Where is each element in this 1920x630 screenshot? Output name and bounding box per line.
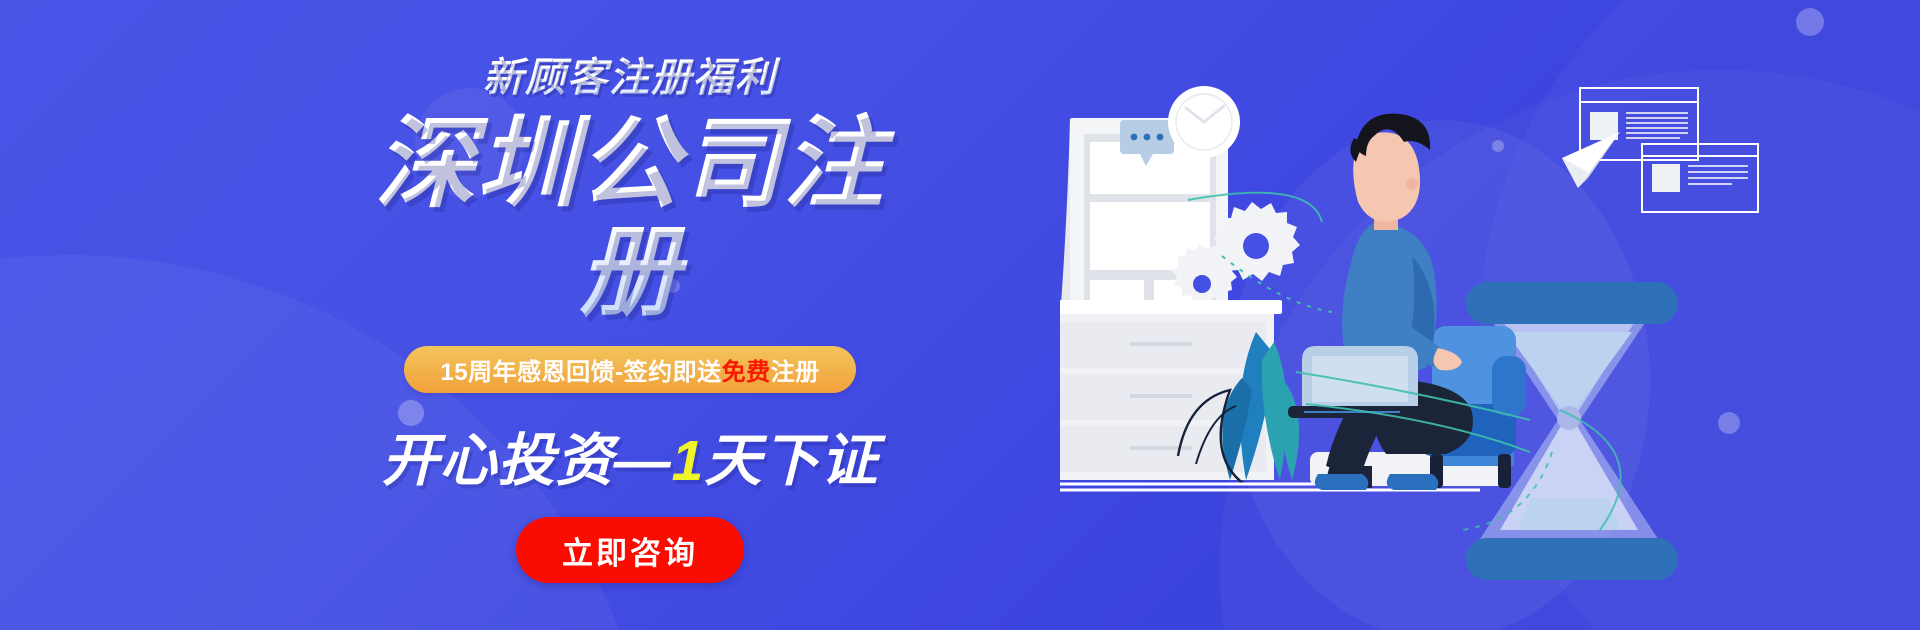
promo-pill-lead: 15周年感恩回馈-签约即送 [440,359,721,386]
chat-bubble-icon [1120,120,1174,166]
person-with-laptop [1315,114,1473,490]
consult-now-button[interactable]: 立即咨询 [516,517,744,583]
sub-headline: 开心投资—1天下证 [330,415,930,497]
sub-headline-tail: 天下证 [704,429,878,493]
promo-pill-text: 15周年感恩回馈-签约即送免费注册 [440,352,819,387]
gears-icon [1172,202,1300,304]
sub-headline-lead: 开心投资— [382,429,672,493]
promo-pill-badge: 15周年感恩回馈-签约即送免费注册 [404,346,856,393]
page-title: 深圳公司注册 [330,110,930,326]
sub-headline-number: 1 [672,429,705,493]
office-worker-illustration [1060,60,1920,580]
promo-banner: 新顾客注册福利 深圳公司注册 15周年感恩回馈-签约即送免费注册 开心投资—1天… [0,0,1920,630]
consult-now-button-label: 立即咨询 [562,528,698,573]
wall-clock-icon [1168,86,1240,158]
promo-pill-tail: 注册 [771,359,820,386]
banner-copy-block: 新顾客注册福利 深圳公司注册 15周年感恩回馈-签约即送免费注册 开心投资—1天… [330,56,930,583]
promo-pill-highlight: 免费 [722,359,771,386]
eyebrow-text: 新顾客注册福利 [330,56,930,100]
decorative-dot [1796,8,1824,36]
